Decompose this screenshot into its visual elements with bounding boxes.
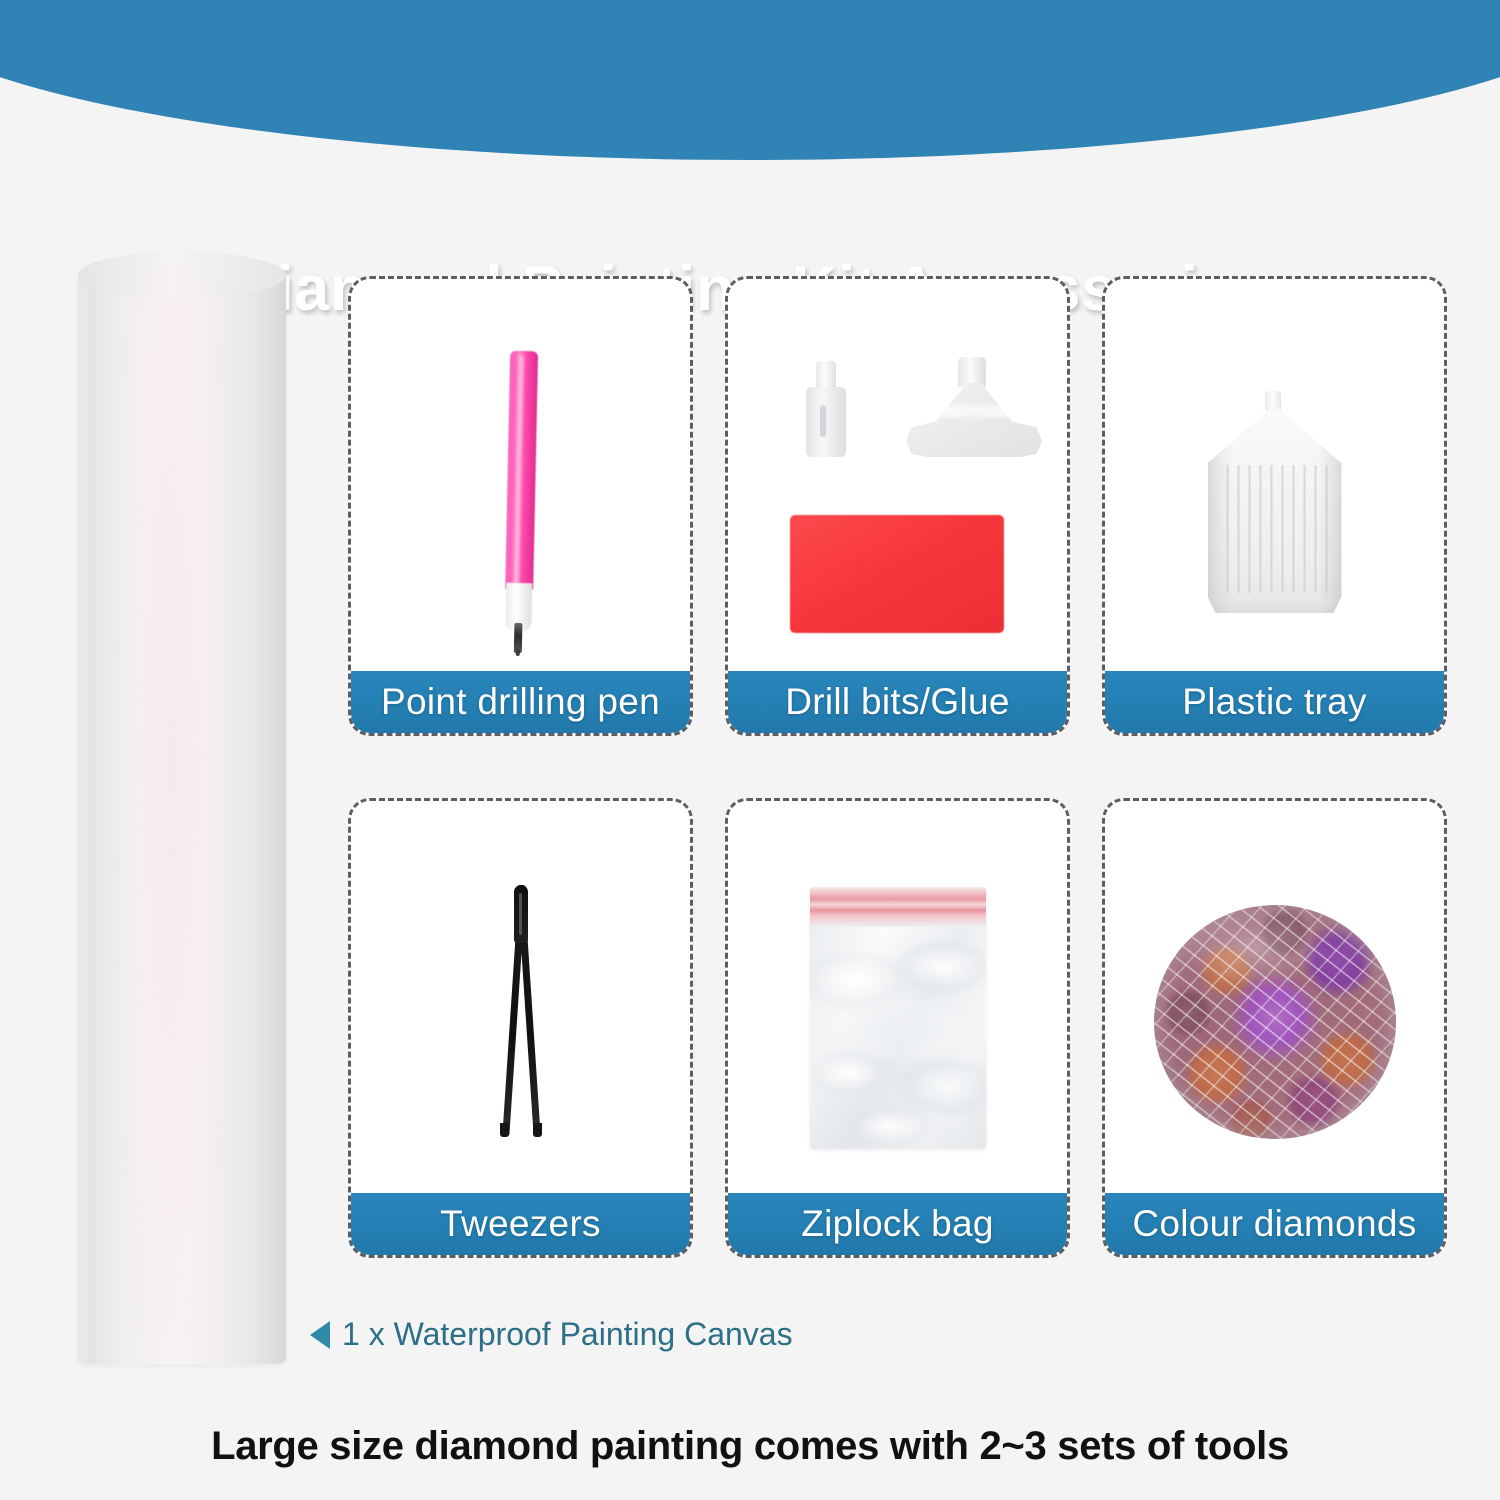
tweezer-tip-left bbox=[500, 1123, 509, 1137]
canvas-note-text: 1 x Waterproof Painting Canvas bbox=[342, 1316, 793, 1353]
pen-body bbox=[505, 351, 538, 590]
diamonds-rim bbox=[1154, 905, 1396, 1139]
bit-body bbox=[806, 387, 846, 457]
card-label-plastic-tray: Plastic tray bbox=[1105, 671, 1444, 733]
accessory-card-plastic-tray[interactable]: Plastic tray bbox=[1102, 276, 1447, 736]
accessory-card-drill-bits-glue[interactable]: Drill bits/Glue bbox=[725, 276, 1070, 736]
canvas-note: 1 x Waterproof Painting Canvas bbox=[310, 1316, 793, 1353]
drill-bit-multi-icon bbox=[906, 357, 1042, 457]
card-figure bbox=[728, 279, 1067, 671]
accessory-card-grid: Point drilling pen Drill bits/Glue bbox=[348, 276, 1448, 1320]
card-label-ziplock-bag: Ziplock bag bbox=[728, 1193, 1067, 1255]
card-figure bbox=[1105, 801, 1444, 1193]
bit-neck bbox=[958, 357, 986, 387]
accessory-card-ziplock-bag[interactable]: Ziplock bag bbox=[725, 798, 1070, 1258]
accessory-card-tweezers[interactable]: Tweezers bbox=[348, 798, 693, 1258]
card-label-colour-diamonds: Colour diamonds bbox=[1105, 1193, 1444, 1255]
ziplock-bag-icon bbox=[810, 887, 986, 1149]
card-label-tweezers: Tweezers bbox=[351, 1193, 690, 1255]
ziplock-seal bbox=[810, 887, 986, 927]
card-row-1: Point drilling pen Drill bits/Glue bbox=[348, 276, 1448, 736]
card-figure bbox=[351, 279, 690, 671]
card-row-2: Tweezers Ziplock bag bbox=[348, 798, 1448, 1258]
drilling-pen-icon bbox=[503, 351, 537, 652]
card-figure bbox=[1105, 279, 1444, 671]
plastic-tray-icon bbox=[1208, 391, 1342, 613]
colour-diamonds-icon bbox=[1154, 905, 1396, 1139]
bit-flare bbox=[906, 383, 1042, 457]
glue-block-icon bbox=[790, 515, 1004, 633]
bit-neck bbox=[816, 361, 836, 389]
tweezers-icon bbox=[498, 885, 544, 1137]
card-figure bbox=[728, 801, 1067, 1193]
accessory-card-colour-diamonds[interactable]: Colour diamonds bbox=[1102, 798, 1447, 1258]
tweezer-tip-right bbox=[533, 1123, 542, 1137]
footer-note: Large size diamond painting comes with 2… bbox=[0, 1424, 1500, 1469]
canvas-roll-image bbox=[78, 252, 286, 1364]
pen-tip bbox=[513, 623, 522, 653]
ziplock-plastic bbox=[810, 927, 986, 1149]
card-label-drill-bits-glue: Drill bits/Glue bbox=[728, 671, 1067, 733]
left-triangle-icon bbox=[310, 1321, 330, 1349]
drill-bit-single-icon bbox=[806, 361, 846, 457]
infographic-page: Diamond Painting Kit Accessories Point d… bbox=[0, 0, 1500, 1500]
card-label-point-drilling-pen: Point drilling pen bbox=[351, 671, 690, 733]
accessory-card-point-drilling-pen[interactable]: Point drilling pen bbox=[348, 276, 693, 736]
header-banner bbox=[0, 0, 1500, 160]
card-figure bbox=[351, 801, 690, 1193]
tweezer-head bbox=[514, 885, 528, 943]
tray-shading bbox=[1208, 405, 1342, 613]
